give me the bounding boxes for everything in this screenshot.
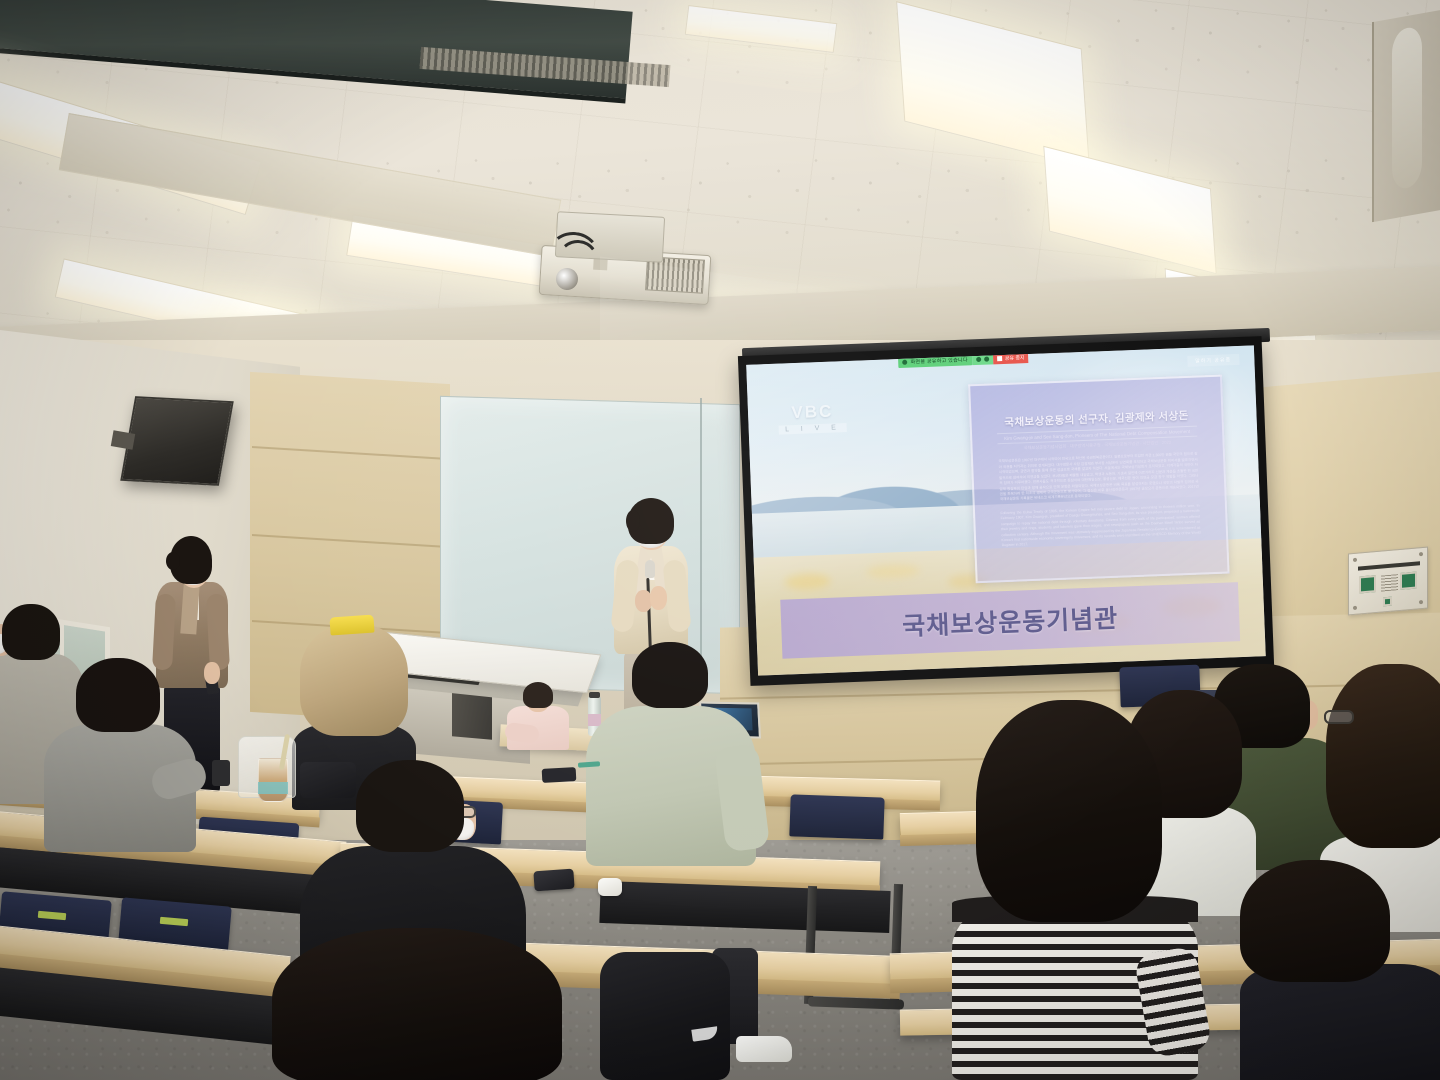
projected-slide: 화면을 공유하고 있습니다 공유 중지 VBC L I V E 말하기 공유중: [746, 345, 1266, 675]
chair[interactable]: [789, 794, 884, 839]
host-hair-bun: [166, 552, 180, 570]
audience-member: [570, 642, 760, 872]
audience-hair: [272, 928, 562, 1080]
presenter-hair-bun: [626, 510, 640, 532]
earbuds-case: [598, 878, 622, 896]
audience-hair: [356, 760, 464, 852]
share-controls[interactable]: [972, 354, 993, 366]
slide-corner-label: 말하기 공유중: [1187, 354, 1239, 367]
host-arm-right: [206, 594, 230, 671]
smartphone[interactable]: [542, 767, 577, 783]
seated-moderator: [505, 682, 575, 752]
stop-share-label: 공유 중지: [1005, 355, 1025, 363]
vbc-logo-text: VBC: [778, 401, 846, 424]
vbc-watermark: VBC L I V E: [778, 401, 847, 435]
panel-text-lines: [1381, 574, 1398, 591]
backpack: [600, 952, 730, 1080]
share-pause-icon[interactable]: [976, 357, 981, 362]
air-conditioner-louver: [1392, 25, 1422, 191]
audience-hair: [632, 642, 708, 708]
exit-sign-icon: [1359, 575, 1376, 593]
audience-member: [952, 700, 1202, 1080]
smartphone[interactable]: [533, 869, 574, 892]
audience-member: [40, 658, 200, 858]
audience-hair: [2, 604, 60, 660]
coffee-cup-label: [258, 782, 288, 794]
share-dot-icon: [903, 360, 908, 365]
emergency-control-panel[interactable]: [1348, 547, 1428, 616]
slide-banner-text: 국채보상운동기념관: [902, 599, 1119, 643]
handheld-microphone[interactable]: [645, 560, 655, 578]
stop-square-icon: [997, 357, 1002, 362]
tumbler: [212, 760, 230, 786]
lecture-hall-photo: 화면을 공유하고 있습니다 공유 중지 VBC L I V E 말하기 공유중: [0, 0, 1440, 1080]
moderator-hair: [523, 682, 553, 708]
audience-hair: [300, 624, 408, 736]
projection-screen: 화면을 공유하고 있습니다 공유 중지 VBC L I V E 말하기 공유중: [738, 336, 1274, 686]
panel-header-bar: [1358, 561, 1420, 570]
audience-hair: [1240, 860, 1390, 982]
yellow-cap-icon: [329, 614, 374, 635]
stop-share-button[interactable]: 공유 중지: [993, 352, 1029, 364]
slide-content-card: 국채보상운동의 선구자, 김광제와 서상돈 Kim Gwang-je and S…: [968, 375, 1229, 584]
audience-hair: [76, 658, 160, 732]
exit-sign-icon: [1400, 571, 1417, 589]
wall-mounted-monitor[interactable]: [120, 396, 234, 486]
info-icon: [1383, 597, 1392, 607]
slide-body-english: Following the Eulsa Treaty of 1905, the …: [1000, 503, 1201, 549]
sneaker: [736, 1036, 792, 1062]
share-status-label: 화면을 공유하고 있습니다: [910, 357, 968, 366]
host-hand: [204, 662, 220, 684]
eyeglasses-icon: [1324, 710, 1354, 724]
audience-member: [272, 928, 562, 1080]
slide-body-korean: 국채보상운동은 1907년 대구에서 시작되어 전국으로 확산된 국권회복운동이…: [998, 452, 1199, 503]
audience-hair: [1326, 664, 1440, 848]
audience-hair: [976, 700, 1162, 922]
presenter-hand-right: [650, 586, 667, 610]
share-annotate-icon[interactable]: [984, 357, 989, 362]
audience-member: [1240, 860, 1440, 1080]
